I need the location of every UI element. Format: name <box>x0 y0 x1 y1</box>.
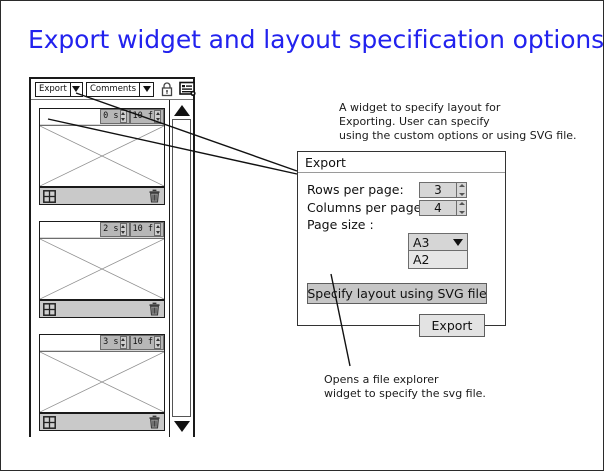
card-footer <box>40 413 164 430</box>
card-seconds-field[interactable]: 3 s <box>100 335 129 350</box>
card-frames-field[interactable]: 10 f <box>130 222 164 237</box>
export-dropdown[interactable]: Export <box>35 82 83 97</box>
trash-icon[interactable] <box>148 415 161 429</box>
card-header: 3 s 10 f <box>40 335 164 351</box>
dialog-titlebar: Export <box>298 152 505 173</box>
card-seconds-value: 0 s <box>103 110 118 123</box>
specify-layout-svg-button[interactable]: Specify layout using SVG file <box>307 283 487 304</box>
storyboard-card[interactable]: 3 s 10 f <box>39 334 165 431</box>
page-size-option-a2[interactable]: A2 <box>409 251 467 268</box>
export-dropdown-label: Export <box>36 83 70 96</box>
annotation-top-text: A widget to specify layout for Exporting… <box>339 101 577 143</box>
columns-per-page-value: 4 <box>420 201 456 215</box>
comments-dropdown-label: Comments <box>87 83 139 96</box>
card-frames-field[interactable]: 10 f <box>130 109 164 124</box>
card-frames-value: 10 f <box>133 110 153 123</box>
scrollbar-track[interactable] <box>172 119 191 417</box>
frames-spinner[interactable] <box>154 110 161 123</box>
add-grid-icon[interactable] <box>43 190 56 203</box>
rows-per-page-value: 3 <box>420 183 456 197</box>
card-thumbnail[interactable] <box>40 351 164 413</box>
storyboard-panel: Export Comments <box>29 77 195 437</box>
export-button[interactable]: Export <box>419 314 485 337</box>
chevron-up-icon[interactable] <box>173 102 191 118</box>
annotation-bottom-text: Opens a file explorer widget to specify … <box>324 373 486 401</box>
add-grid-icon[interactable] <box>43 303 56 316</box>
slide-canvas: Export widget and layout specification o… <box>0 0 604 471</box>
seconds-spinner[interactable] <box>120 110 127 123</box>
page-title: Export widget and layout specification o… <box>28 25 604 54</box>
card-footer <box>40 300 164 317</box>
card-header: 0 s 10 f <box>40 109 164 125</box>
rows-per-page-label: Rows per page: <box>307 182 419 197</box>
storyboard-scroll-area[interactable]: 0 s 10 f <box>31 100 173 437</box>
page-size-select[interactable]: A3 A2 <box>408 233 468 269</box>
card-frames-field[interactable]: 10 f <box>130 335 164 350</box>
rows-per-page-row: Rows per page: 3 <box>307 181 496 198</box>
export-dialog: Export Rows per page: 3 Columns per page… <box>297 151 506 326</box>
card-seconds-value: 2 s <box>103 223 118 236</box>
dialog-body: Rows per page: 3 Columns per page: 4 Pag… <box>298 173 505 234</box>
card-seconds-value: 3 s <box>103 336 118 349</box>
card-footer <box>40 187 164 204</box>
rows-spinner[interactable] <box>456 183 466 197</box>
comments-dropdown[interactable]: Comments <box>86 82 154 97</box>
chevron-down-icon[interactable] <box>139 83 153 96</box>
trash-icon[interactable] <box>148 189 161 203</box>
storyboard-card[interactable]: 0 s 10 f <box>39 108 165 205</box>
dialog-title: Export <box>305 155 346 170</box>
card-thumbnail[interactable] <box>40 125 164 187</box>
card-frames-value: 10 f <box>133 223 153 236</box>
seconds-spinner[interactable] <box>120 336 127 349</box>
panel-toolbar: Export Comments <box>31 79 193 100</box>
columns-per-page-label: Columns per page: <box>307 200 419 215</box>
vertical-scrollbar[interactable] <box>169 100 193 437</box>
chevron-down-icon[interactable] <box>70 83 82 96</box>
columns-per-page-row: Columns per page: 4 <box>307 199 496 216</box>
list-settings-icon[interactable] <box>179 81 196 97</box>
chevron-down-icon[interactable] <box>173 418 191 434</box>
storyboard-card[interactable]: 2 s 10 f <box>39 221 165 318</box>
frames-spinner[interactable] <box>154 336 161 349</box>
card-header: 2 s 10 f <box>40 222 164 238</box>
frames-spinner[interactable] <box>154 223 161 236</box>
page-size-selected-value: A3 <box>413 235 430 250</box>
card-frames-value: 10 f <box>133 336 153 349</box>
trash-icon[interactable] <box>148 302 161 316</box>
add-grid-icon[interactable] <box>43 416 56 429</box>
seconds-spinner[interactable] <box>120 223 127 236</box>
rows-per-page-stepper[interactable]: 3 <box>419 182 467 198</box>
page-size-row: Page size : <box>307 217 496 234</box>
page-size-selected[interactable]: A3 <box>409 234 467 251</box>
lock-icon[interactable] <box>160 81 174 97</box>
card-thumbnail[interactable] <box>40 238 164 300</box>
columns-per-page-stepper[interactable]: 4 <box>419 200 467 216</box>
columns-spinner[interactable] <box>456 201 466 215</box>
card-seconds-field[interactable]: 0 s <box>100 109 129 124</box>
chevron-down-icon[interactable] <box>453 239 463 246</box>
page-size-label: Page size : <box>307 217 419 232</box>
card-seconds-field[interactable]: 2 s <box>100 222 129 237</box>
